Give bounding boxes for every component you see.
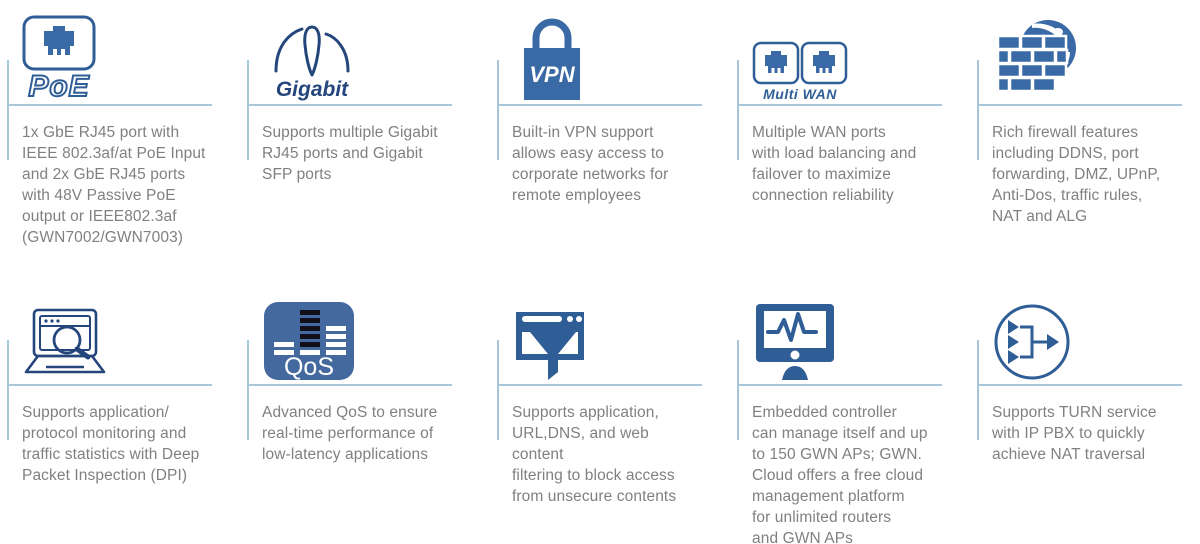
icon-container [8,280,240,384]
divider-line [738,104,942,106]
feature-card-content-filter: Supports application, URL,DNS, and web c… [490,280,730,544]
gigabit-icon-label: Gigabit [276,78,348,102]
feature-description: Rich firewall features including DDNS, p… [978,104,1200,227]
divider-line [978,384,1182,386]
feature-description: Multiple WAN ports with load balancing a… [738,104,970,206]
icon-container [978,280,1200,384]
feature-card-vpn: VPN Built-in VPN support allows easy acc… [490,0,730,280]
laptop-magnifier-icon [22,306,108,382]
icon-container: Multi WAN [738,0,970,104]
accent-vertical-line [247,60,249,160]
accent-vertical-line [497,60,499,160]
monitor-pulse-icon [752,302,838,382]
divider-line [8,384,212,386]
feature-description: Advanced QoS to ensure real-time perform… [248,384,490,465]
feature-card-gigabit: Gigabit Supports multiple Gigabit RJ45 p… [240,0,490,280]
divider-line [978,104,1182,106]
qos-icon-label: QoS [284,353,334,381]
divider-line [738,384,942,386]
feature-description: Embedded controller can manage itself an… [738,384,970,544]
feature-card-poe: PoE 1x GbE RJ45 port with IEEE 802.3af/a… [0,0,240,280]
qos-equalizer-icon: QoS [262,300,356,382]
icon-container [738,280,970,384]
feature-grid: PoE 1x GbE RJ45 port with IEEE 802.3af/a… [0,0,1200,544]
accent-vertical-line [977,340,979,440]
accent-vertical-line [737,340,739,440]
vpn-lock-icon: VPN [512,16,592,102]
feature-card-controller: Embedded controller can manage itself an… [730,280,970,544]
accent-vertical-line [977,60,979,160]
icon-container: VPN [498,0,730,104]
feature-description: Supports multiple Gigabit RJ45 ports and… [248,104,490,185]
accent-vertical-line [7,60,9,160]
feature-card-turn: Supports TURN service with IP PBX to qui… [970,280,1200,544]
feature-card-multi-wan: Multi WAN Multiple WAN ports with load b… [730,0,970,280]
icon-container: Gigabit [248,0,490,104]
poe-icon [22,15,96,71]
icon-container [498,280,730,384]
feature-description: 1x GbE RJ45 port with IEEE 802.3af/at Po… [8,104,240,248]
accent-vertical-line [497,340,499,440]
feature-card-firewall: Rich firewall features including DDNS, p… [970,0,1200,280]
accent-vertical-line [7,340,9,440]
icon-container: PoE [8,0,240,104]
divider-line [248,384,452,386]
feature-description: Supports application, URL,DNS, and web c… [498,384,730,507]
accent-vertical-line [247,340,249,440]
vpn-icon-label: VPN [529,62,575,87]
divider-line [498,104,702,106]
poe-icon-label: PoE [28,72,89,102]
firewall-brick-globe-icon [992,18,1084,102]
feature-description: Supports TURN service with IP PBX to qui… [978,384,1200,465]
icon-container: QoS [248,280,490,384]
divider-line [8,104,212,106]
icon-container [978,0,1200,104]
divider-line [248,104,452,106]
browser-funnel-filter-icon [512,306,588,382]
feature-card-qos: QoS Advanced QoS to ensure real-time per… [240,280,490,544]
feature-description: Built-in VPN support allows easy access … [498,104,730,206]
nat-traversal-circle-icon [992,302,1072,382]
feature-description: Supports application/ protocol monitorin… [8,384,240,486]
gigabit-icon [262,25,362,77]
divider-line [498,384,702,386]
multi-wan-icon [752,41,848,85]
accent-vertical-line [737,60,739,160]
multi-wan-icon-label: Multi WAN [763,86,837,102]
feature-card-dpi: Supports application/ protocol monitorin… [0,280,240,544]
